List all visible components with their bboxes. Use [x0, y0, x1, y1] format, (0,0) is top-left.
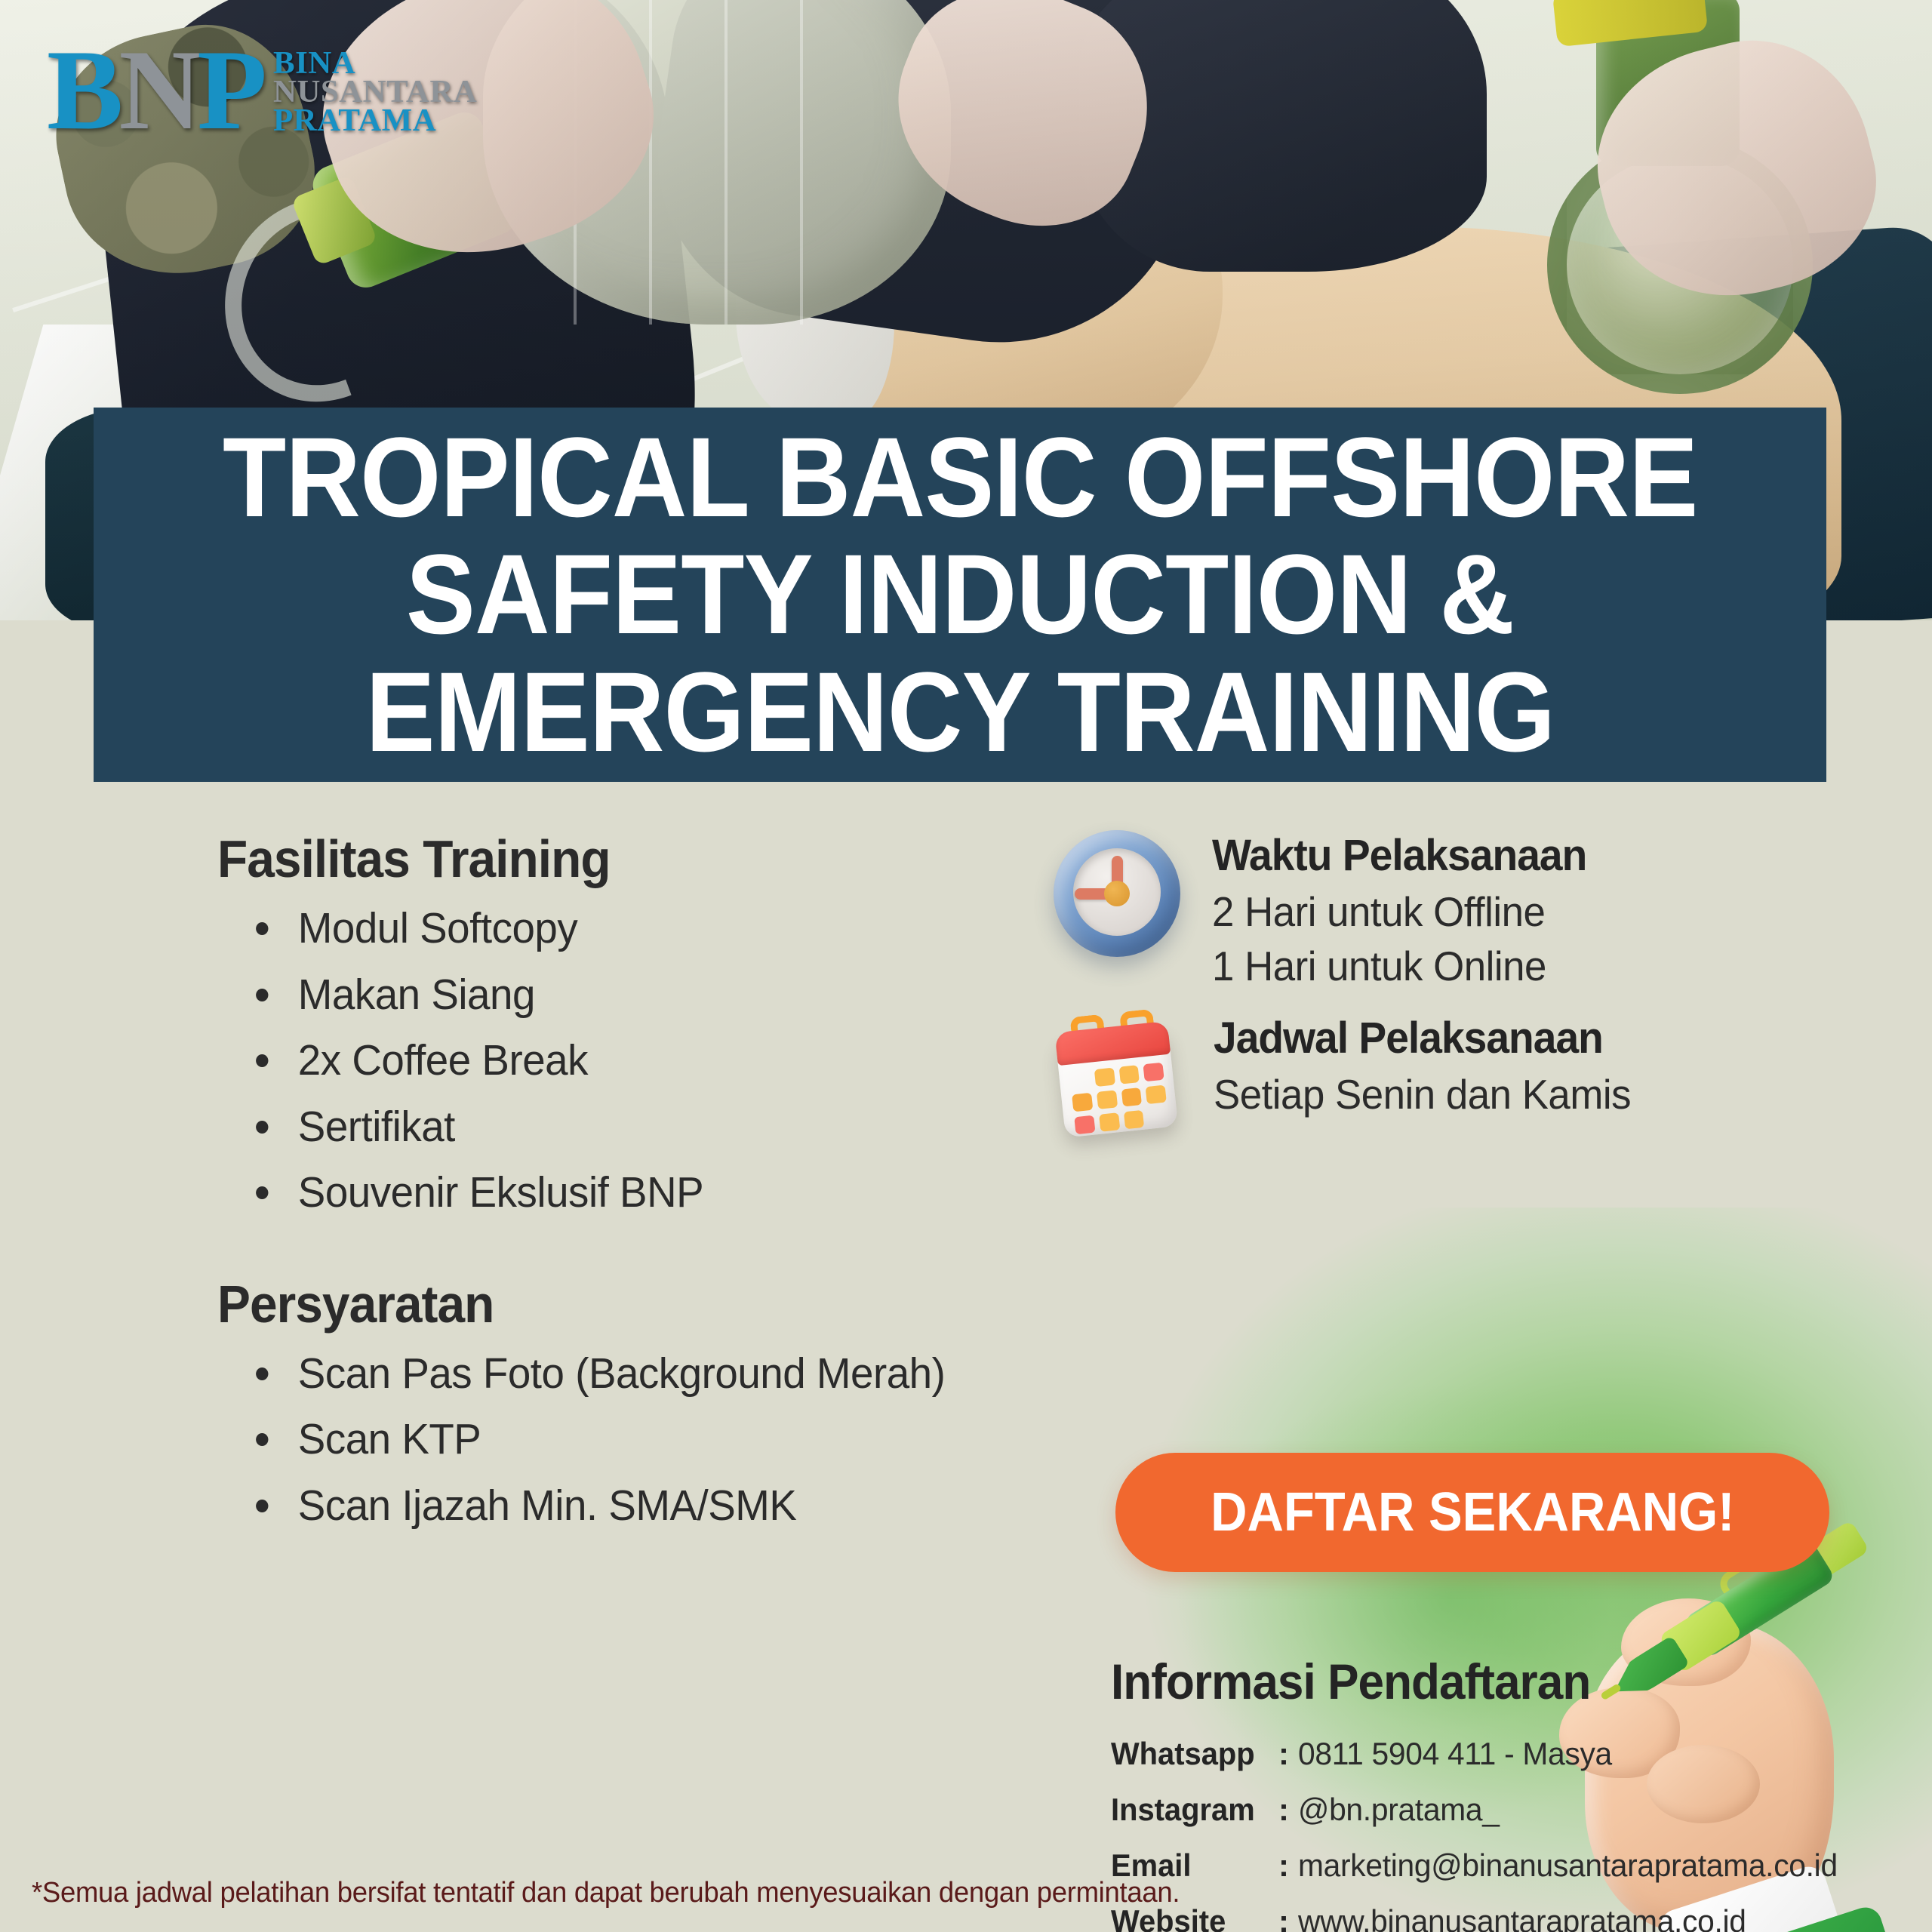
calendar-icon	[1048, 1007, 1189, 1148]
contact-colon: :	[1278, 1903, 1298, 1932]
poster-title-line-2: SAFETY INDUCTION &	[406, 536, 1514, 653]
list-item: Makan Siang	[240, 969, 1001, 1022]
register-now-label: DAFTAR SEKARANG!	[1211, 1481, 1734, 1543]
contact-colon: :	[1278, 1792, 1298, 1828]
duration-title: Waktu Pelaksanaan	[1212, 830, 1586, 881]
dates-info-block: Jadwal Pelaksanaan Setiap Senin dan Kami…	[1054, 1013, 1648, 1141]
register-now-button[interactable]: DAFTAR SEKARANG!	[1115, 1453, 1829, 1572]
clock-center-pin	[1104, 881, 1130, 906]
list-item: 2x Coffee Break	[240, 1035, 1001, 1088]
logo-word-pratama: PRATAMA	[273, 107, 477, 136]
poster-title-line-3: EMERGENCY TRAINING	[365, 654, 1555, 771]
footer-disclaimer: *Semua jadwal pelatihan bersifat tentati…	[32, 1877, 1180, 1909]
contact-value-website[interactable]: www.binanusantarapratama.co.id	[1298, 1903, 1746, 1932]
list-item: Souvenir Ekslusif BNP	[240, 1167, 1001, 1220]
contact-row-whatsapp: Whatsapp : 0811 5904 411 - Masya	[1111, 1736, 1896, 1772]
contact-row-website: Website : www.binanusantarapratama.co.id	[1111, 1903, 1896, 1932]
list-item: Scan KTP	[240, 1414, 1001, 1466]
contact-value-instagram[interactable]: @bn.pratama_	[1298, 1792, 1500, 1828]
duration-line-offline: 2 Hari untuk Offline	[1212, 885, 1591, 940]
contact-label: Instagram	[1111, 1792, 1270, 1828]
dates-text: Jadwal Pelaksanaan Setiap Senin dan Kami…	[1214, 1013, 1648, 1122]
contact-row-email: Email : marketing@binanusantarapratama.c…	[1111, 1847, 1896, 1884]
logo-wordmark: BINA NUSANTARA PRATAMA	[273, 50, 473, 135]
list-item: Scan Pas Foto (Background Merah)	[240, 1348, 1001, 1401]
duration-text: Waktu Pelaksanaan 2 Hari untuk Offline 1…	[1212, 830, 1606, 993]
registration-heading: Informasi Pendaftaran	[1111, 1653, 1849, 1710]
logo-letter-n: N	[118, 26, 197, 153]
list-item: Modul Softcopy	[240, 903, 1001, 955]
section-spacer	[217, 1233, 1032, 1274]
contact-value-whatsapp[interactable]: 0811 5904 411 - Masya	[1298, 1736, 1612, 1772]
poster-title-line-1: TROPICAL BASIC OFFSHORE	[223, 419, 1697, 536]
poster-root: BNP BINA NUSANTARA PRATAMA TROPICAL BASI…	[0, 0, 1932, 1932]
bnp-logo: BNP BINA NUSANTARA PRATAMA	[47, 38, 473, 143]
calendar-day-grid	[1069, 1063, 1169, 1135]
duration-line-online: 1 Hari untuk Online	[1212, 940, 1591, 994]
contact-value-email[interactable]: marketing@binanusantarapratama.co.id	[1298, 1847, 1838, 1884]
list-item: Scan Ijazah Min. SMA/SMK	[240, 1480, 1001, 1533]
left-content-column: Fasilitas Training Modul Softcopy Makan …	[217, 829, 1032, 1546]
list-item: Sertifikat	[240, 1101, 1001, 1154]
contact-colon: :	[1278, 1847, 1298, 1884]
clock-icon	[1054, 830, 1180, 957]
facilities-heading: Fasilitas Training	[217, 829, 983, 889]
logo-letter-b: B	[47, 26, 118, 153]
registration-info: Informasi Pendaftaran Whatsapp : 0811 59…	[1111, 1653, 1896, 1932]
requirements-list: Scan Pas Foto (Background Merah) Scan KT…	[240, 1348, 1032, 1533]
dates-title: Jadwal Pelaksanaan	[1214, 1013, 1626, 1063]
contact-row-instagram: Instagram : @bn.pratama_	[1111, 1792, 1896, 1828]
duration-info-block: Waktu Pelaksanaan 2 Hari untuk Offline 1…	[1054, 830, 1606, 993]
requirements-heading: Persyaratan	[217, 1274, 983, 1334]
logo-letter-p: P	[197, 26, 263, 153]
logo-monogram: BNP	[47, 38, 263, 143]
contact-colon: :	[1278, 1736, 1298, 1772]
contact-label: Whatsapp	[1111, 1736, 1270, 1772]
facilities-list: Modul Softcopy Makan Siang 2x Coffee Bre…	[240, 903, 1032, 1220]
title-banner: TROPICAL BASIC OFFSHORE SAFETY INDUCTION…	[94, 408, 1826, 782]
dates-line: Setiap Senin dan Kamis	[1214, 1068, 1631, 1122]
